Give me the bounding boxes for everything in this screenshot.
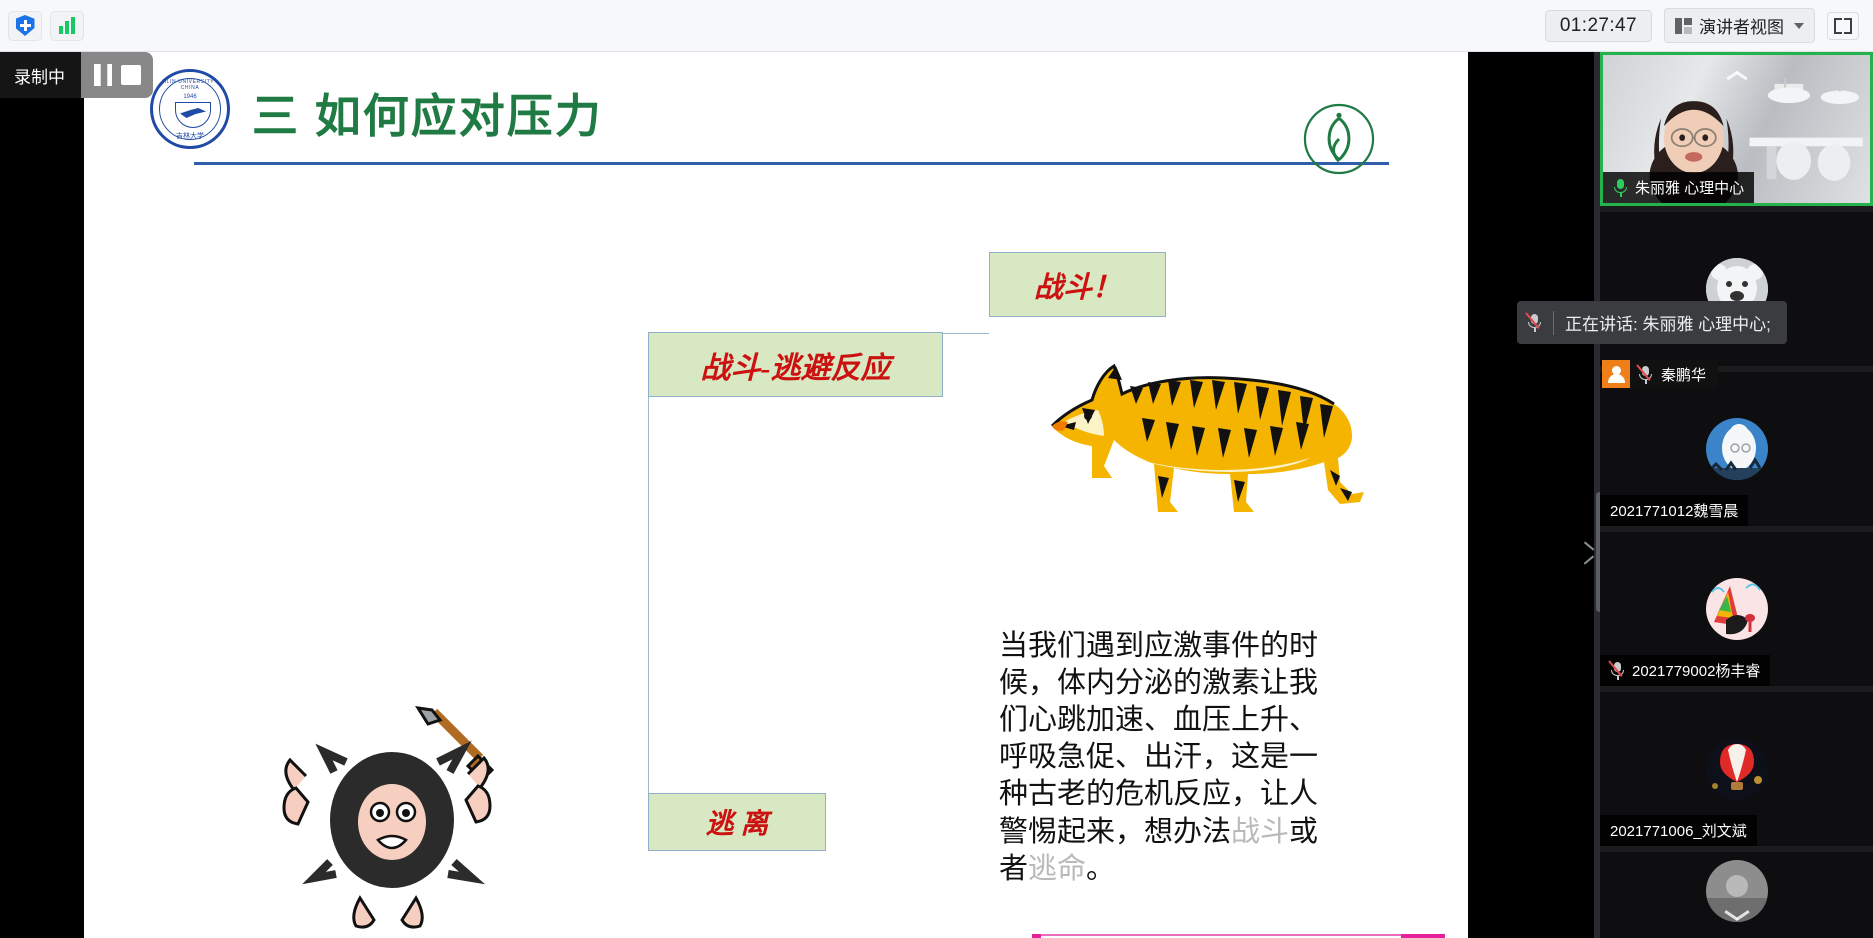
logo-cn-text: 吉林大学	[153, 131, 227, 141]
speaking-tooltip: 正在讲话: 朱丽雅 心理中心;	[1517, 301, 1787, 344]
paragraph-run: 。	[1086, 851, 1115, 885]
connector-vertical	[648, 397, 649, 793]
participant-name: 2021779002杨丰睿	[1600, 655, 1770, 686]
box-fight-flight: 战斗-逃避反应	[648, 332, 943, 397]
slide-header: JILIN UNIVERSITY · CHINA 1946 吉林大学 三 如何应…	[84, 52, 1468, 162]
mic-on-icon	[1613, 178, 1628, 197]
chevron-down-icon	[1794, 23, 1804, 29]
participant-name: 朱丽雅 心理中心	[1603, 172, 1754, 203]
floating-participant-pill[interactable]: 秦鹏华	[1602, 360, 1718, 388]
participant-name: 2021771012魏雪晨	[1600, 495, 1748, 526]
box-fight: 战斗！	[989, 252, 1166, 317]
participant-tile-active[interactable]: 朱丽雅 心理中心	[1600, 52, 1873, 206]
logo-year: 1946	[153, 94, 227, 100]
logo-ring-text: JILIN UNIVERSITY · CHINA	[153, 79, 227, 91]
jilin-university-logo-icon: JILIN UNIVERSITY · CHINA 1946 吉林大学	[150, 69, 230, 149]
fullscreen-button[interactable]	[1827, 12, 1859, 40]
avatar	[1706, 418, 1768, 480]
box-flee: 逃 离	[648, 793, 826, 851]
mic-muted-icon	[1527, 313, 1542, 332]
avatar	[1706, 578, 1768, 640]
participant-tile[interactable]: 2021771012魏雪晨	[1600, 372, 1873, 526]
banner-flower-icon	[1401, 934, 1445, 938]
paragraph-dim-run: 战斗	[1231, 814, 1289, 848]
caveman-illustration	[274, 702, 534, 932]
chevron-up-icon[interactable]	[1726, 71, 1748, 83]
meeting-stage: 录制中 JILIN UNIVERSITY · CHINA 1946 吉林大学 三…	[0, 52, 1873, 938]
speaking-tooltip-text: 正在讲话: 朱丽雅 心理中心;	[1565, 310, 1771, 335]
layout-icon	[1675, 18, 1692, 34]
shared-slide: JILIN UNIVERSITY · CHINA 1946 吉林大学 三 如何应…	[84, 52, 1468, 938]
center-logo-flower-icon	[1302, 102, 1376, 176]
tiger-illustration	[1034, 342, 1374, 517]
recording-controls	[81, 52, 153, 98]
recording-label: 录制中	[0, 52, 81, 98]
floating-pill-name: 秦鹏华	[1661, 364, 1706, 385]
user-avatar-icon	[1602, 360, 1630, 388]
participant-tile[interactable]: 2021771006_刘文斌	[1600, 692, 1873, 846]
stop-icon[interactable]	[121, 65, 141, 85]
collapse-rail-chevron-icon[interactable]	[1578, 537, 1598, 571]
participant-tile[interactable]	[1600, 852, 1873, 938]
bar-chart-icon[interactable]	[50, 11, 84, 41]
connector-horizontal	[942, 333, 989, 334]
pause-icon[interactable]	[93, 64, 115, 86]
browser-toolbar: 01:27:47 演讲者视图	[0, 0, 1873, 52]
participant-rail: 朱丽雅 心理中心	[1600, 52, 1873, 938]
view-mode-selector[interactable]: 演讲者视图	[1664, 8, 1815, 43]
participant-tile[interactable]: 2021779002杨丰睿	[1600, 532, 1873, 686]
scroll-down-chevron-icon[interactable]	[1724, 910, 1750, 924]
center-banner: 吉林大学学生心理健康指导中心	[1032, 934, 1445, 938]
shield-icon[interactable]	[8, 11, 42, 41]
recording-indicator: 录制中	[0, 52, 153, 98]
browser-right-controls: 01:27:47 演讲者视图	[1545, 8, 1873, 43]
mic-muted-icon	[1638, 365, 1653, 384]
banner-text: 吉林大学学生心理健康指导中心	[1041, 934, 1401, 938]
meeting-timer: 01:27:47	[1545, 10, 1652, 42]
avatar	[1706, 738, 1768, 800]
slide-title: 三 如何应对压力	[252, 80, 603, 146]
paragraph-dim-run: 逃命	[1028, 851, 1086, 885]
slide-paragraph: 当我们遇到应激事件的时候，体内分泌的激素让我们心跳加速、血压上升、呼吸急促、出汗…	[999, 627, 1329, 887]
participant-name: 2021771006_刘文斌	[1600, 815, 1757, 846]
header-divider	[194, 162, 1389, 165]
mic-muted-icon	[1610, 661, 1625, 680]
view-mode-label: 演讲者视图	[1699, 13, 1784, 38]
